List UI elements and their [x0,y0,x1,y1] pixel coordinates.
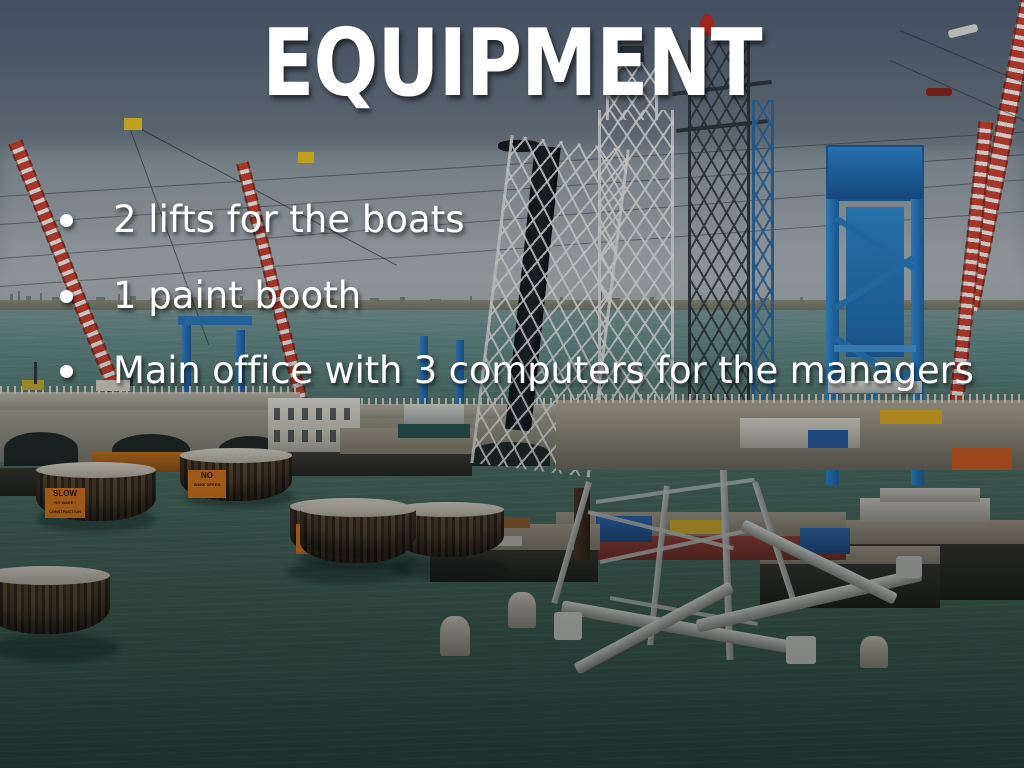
bullet-marker-icon [60,290,73,303]
list-item: 2 lifts for the boats [60,198,1010,242]
slide-content: EQUIPMENT 2 lifts for the boats 1 paint … [0,0,1024,768]
list-item-label: Main office with 3 computers for the man… [113,349,974,393]
list-item: Main office with 3 computers for the man… [60,349,1010,393]
bullet-marker-icon [60,365,73,378]
page-title: EQUIPMENT [92,17,932,110]
bullet-marker-icon [60,214,73,227]
list-item-label: 1 paint booth [113,274,361,318]
presentation-slide: SLOW NO WAKE / CONSTRUCTION ZONE NO WAKE… [0,0,1024,768]
list-item: 1 paint booth [60,274,1010,318]
list-item-label: 2 lifts for the boats [113,198,464,242]
bullet-list: 2 lifts for the boats 1 paint booth Main… [60,198,1010,425]
